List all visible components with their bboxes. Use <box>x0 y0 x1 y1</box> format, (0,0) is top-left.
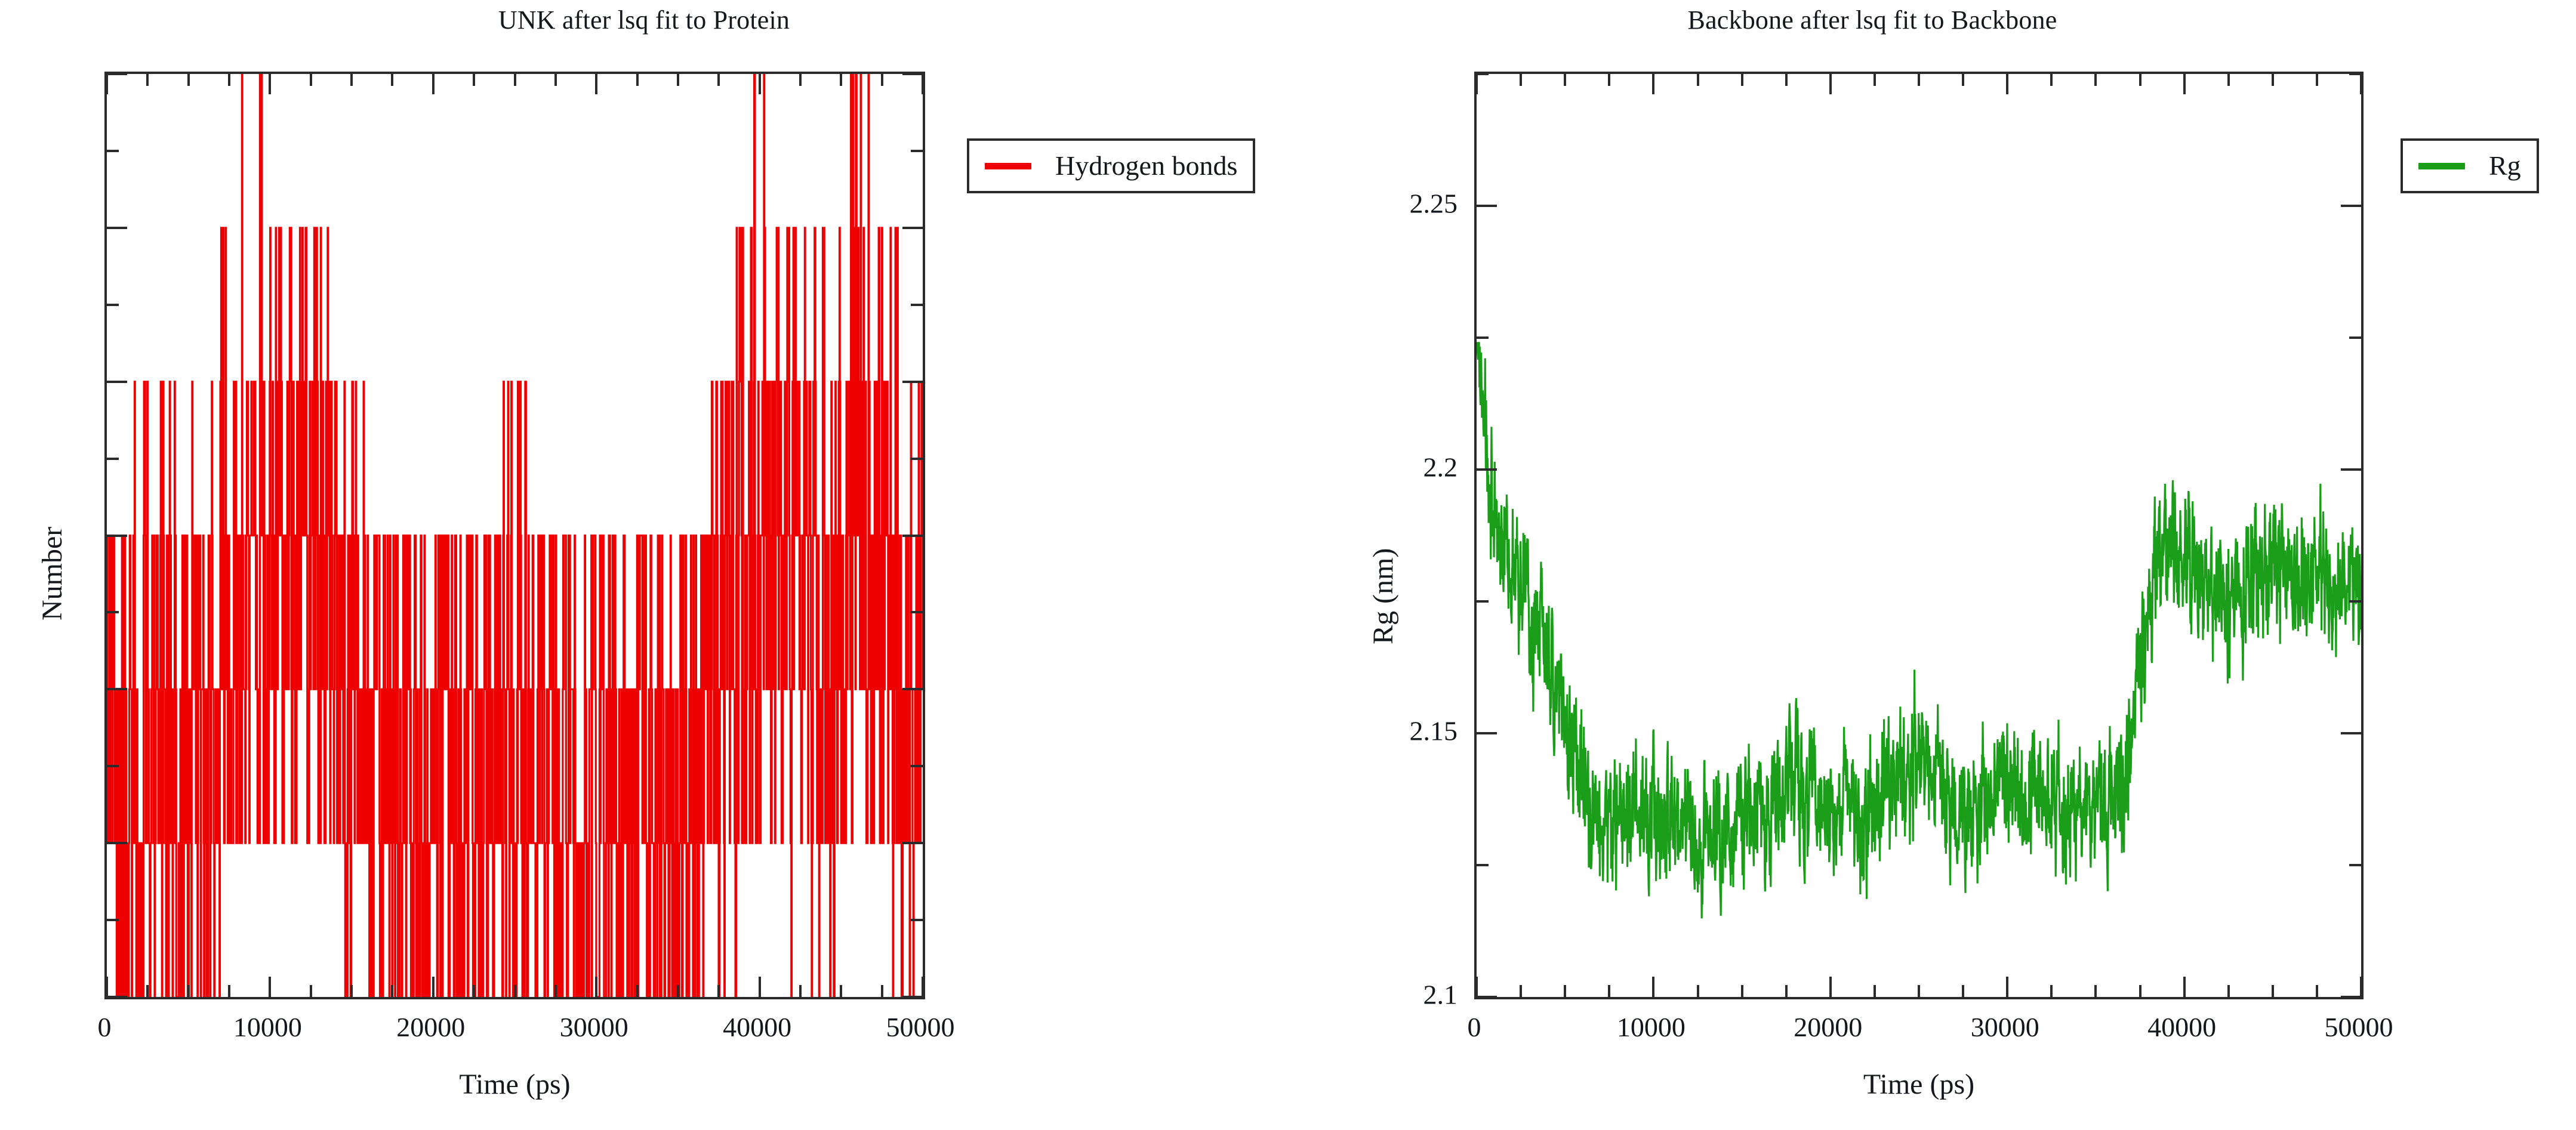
x-tick-label: 20000 <box>1794 1011 1862 1043</box>
legend-label-hydrogen-bonds: Hydrogen bonds <box>1055 152 1237 180</box>
x-axis-tick <box>106 74 108 94</box>
x-tick-label: 0 <box>98 1011 112 1043</box>
y-axis-minor-tick <box>2349 73 2361 75</box>
x-axis-minor-tick <box>799 74 802 86</box>
legend-rg: Rg <box>2401 138 2539 193</box>
y-axis-minor-tick <box>2349 864 2361 866</box>
y-axis-tick <box>107 227 127 229</box>
x-axis-minor-tick <box>2094 74 2097 86</box>
legend-line-swatch-rg <box>2418 163 2465 169</box>
x-axis-tick <box>1829 977 1832 997</box>
x-axis-tick <box>2360 74 2362 94</box>
x-axis-minor-tick <box>2139 74 2141 86</box>
x-tick-label: 40000 <box>2147 1011 2216 1043</box>
x-axis-tick <box>2360 977 2362 997</box>
y-axis-tick <box>902 535 923 537</box>
x-axis-minor-tick <box>350 985 353 997</box>
x-axis-minor-tick <box>881 985 883 997</box>
x-axis-tick <box>595 977 597 997</box>
x-axis-minor-tick <box>554 74 557 86</box>
x-axis-tick <box>1652 74 1654 94</box>
x-axis-minor-tick <box>1918 74 1920 86</box>
x-tick-label: 50000 <box>2325 1011 2393 1043</box>
x-axis-minor-tick <box>228 985 230 997</box>
x-axis-tick <box>595 74 597 94</box>
x-axis-tick <box>1475 74 1478 94</box>
y-axis-minor-tick <box>107 611 119 613</box>
y-axis-tick <box>1477 205 1497 207</box>
x-axis-minor-tick <box>2050 985 2053 997</box>
x-axis-minor-tick <box>840 985 842 997</box>
plot-area-hbond <box>104 72 925 999</box>
x-axis-tick <box>922 977 924 997</box>
x-axis-minor-tick <box>310 985 312 997</box>
x-axis-minor-tick <box>2050 74 2053 86</box>
x-axis-minor-tick <box>2139 985 2141 997</box>
y-axis-minor-tick <box>2349 336 2361 339</box>
y-axis-tick <box>107 996 127 998</box>
x-axis-minor-tick <box>350 74 353 86</box>
y-axis-tick <box>2341 205 2361 207</box>
plot-clip-hbond <box>107 74 923 997</box>
y-tick-label: 2.1 <box>1423 979 1458 1011</box>
chart-title-rg: Backbone after lsq fit to Backbone <box>1228 5 2516 35</box>
x-axis-minor-tick <box>1741 74 1743 86</box>
x-axis-minor-tick <box>2316 74 2318 86</box>
y-axis-tick <box>1477 732 1497 734</box>
y-tick-label: 2.25 <box>1410 188 1458 220</box>
plot-area-rg <box>1474 72 2364 999</box>
x-tick-label: 0 <box>1468 1011 1481 1043</box>
x-axis-tick <box>1475 977 1478 997</box>
x-axis-tick <box>1652 977 1654 997</box>
x-axis-minor-tick <box>636 985 639 997</box>
x-tick-label: 50000 <box>886 1011 955 1043</box>
x-axis-minor-tick <box>1962 74 1964 86</box>
x-axis-minor-tick <box>2272 74 2274 86</box>
x-axis-tick <box>432 74 435 94</box>
x-axis-minor-tick <box>554 985 557 997</box>
x-axis-tick <box>1829 74 1832 94</box>
plot-clip-rg <box>1477 74 2361 997</box>
x-axis-minor-tick <box>636 74 639 86</box>
y-axis-minor-tick <box>107 458 119 460</box>
x-axis-minor-tick <box>146 985 149 997</box>
y-tick-label: 2.15 <box>1410 715 1458 747</box>
y-axis-minor-tick <box>1477 336 1489 339</box>
x-axis-minor-tick <box>391 985 393 997</box>
hydrogen-bonds-line <box>107 74 923 997</box>
x-axis-minor-tick <box>473 74 475 86</box>
x-axis-minor-tick <box>881 74 883 86</box>
y-axis-minor-tick <box>911 304 923 306</box>
x-axis-minor-tick <box>310 74 312 86</box>
x-axis-minor-tick <box>1564 74 1566 86</box>
x-axis-tick <box>759 977 761 997</box>
y-axis-minor-tick <box>911 611 923 613</box>
x-axis-minor-tick <box>799 985 802 997</box>
hydrogen-bonds-trace <box>107 74 923 997</box>
y-axis-minor-tick <box>107 919 119 921</box>
x-axis-tick <box>2183 977 2186 997</box>
y-tick-label: 2.2 <box>1423 452 1458 483</box>
y-axis-tick <box>902 842 923 844</box>
x-axis-minor-tick <box>146 74 149 86</box>
x-axis-minor-tick <box>2316 985 2318 997</box>
x-axis-minor-tick <box>228 74 230 86</box>
y-axis-tick <box>902 688 923 690</box>
x-axis-tick <box>922 74 924 94</box>
x-axis-tick <box>759 74 761 94</box>
x-axis-minor-tick <box>1962 985 1964 997</box>
y-axis-tick <box>902 73 923 75</box>
y-axis-title-hbond: Number <box>36 527 69 620</box>
y-axis-tick <box>107 73 127 75</box>
y-axis-tick <box>1477 468 1497 471</box>
y-axis-minor-tick <box>911 150 923 152</box>
x-axis-minor-tick <box>2272 985 2274 997</box>
x-tick-label: 40000 <box>723 1011 791 1043</box>
x-axis-minor-tick <box>391 74 393 86</box>
x-axis-minor-tick <box>1520 74 1522 86</box>
x-axis-minor-tick <box>677 74 679 86</box>
x-axis-minor-tick <box>2227 985 2230 997</box>
x-axis-minor-tick <box>677 985 679 997</box>
rg-trace <box>1477 74 2361 997</box>
x-axis-minor-tick <box>1564 985 1566 997</box>
x-axis-tick <box>269 977 271 997</box>
legend-line-swatch-hydrogen-bonds <box>985 163 1031 169</box>
y-axis-tick <box>2341 996 2361 998</box>
x-axis-tick <box>2006 977 2008 997</box>
x-axis-tick <box>432 977 435 997</box>
x-axis-minor-tick <box>1697 985 1699 997</box>
y-axis-tick <box>2341 732 2361 734</box>
x-axis-minor-tick <box>2094 985 2097 997</box>
x-axis-minor-tick <box>1697 74 1699 86</box>
y-axis-minor-tick <box>1477 600 1489 603</box>
y-axis-tick <box>902 227 923 229</box>
figure-root: UNK after lsq fit to Protein 0123456 010… <box>0 0 2576 1130</box>
x-axis-minor-tick <box>1785 985 1788 997</box>
x-axis-minor-tick <box>1785 74 1788 86</box>
x-axis-tick <box>2183 74 2186 94</box>
x-axis-minor-tick <box>1874 985 1876 997</box>
x-tick-label: 10000 <box>1617 1011 1686 1043</box>
x-axis-minor-tick <box>840 74 842 86</box>
x-axis-minor-tick <box>717 985 720 997</box>
x-axis-minor-tick <box>514 985 516 997</box>
legend-label-rg: Rg <box>2489 152 2521 180</box>
y-axis-tick <box>107 381 127 383</box>
y-axis-tick <box>1477 996 1497 998</box>
x-axis-tick <box>269 74 271 94</box>
y-axis-minor-tick <box>107 150 119 152</box>
x-tick-label: 10000 <box>233 1011 302 1043</box>
y-axis-tick <box>902 381 923 383</box>
x-axis-minor-tick <box>1918 985 1920 997</box>
x-axis-minor-tick <box>1874 74 1876 86</box>
y-axis-minor-tick <box>911 458 923 460</box>
panel-hbond: UNK after lsq fit to Protein 0123456 010… <box>0 0 1288 1130</box>
y-axis-tick <box>107 535 127 537</box>
x-axis-minor-tick <box>514 74 516 86</box>
y-axis-tick <box>107 842 127 844</box>
x-axis-minor-tick <box>1608 985 1610 997</box>
x-tick-label: 30000 <box>560 1011 628 1043</box>
x-axis-minor-tick <box>187 985 190 997</box>
x-tick-label: 20000 <box>396 1011 465 1043</box>
y-axis-title-rg: Rg (nm) <box>1367 548 1400 644</box>
x-axis-minor-tick <box>1741 985 1743 997</box>
chart-title-hbond: UNK after lsq fit to Protein <box>0 5 1288 35</box>
x-axis-minor-tick <box>1520 985 1522 997</box>
x-axis-title-hbond: Time (ps) <box>104 1068 925 1101</box>
y-axis-minor-tick <box>107 765 119 767</box>
x-axis-title-rg: Time (ps) <box>1474 1068 2364 1101</box>
x-axis-minor-tick <box>1608 74 1610 86</box>
x-axis-minor-tick <box>717 74 720 86</box>
x-axis-minor-tick <box>2227 74 2230 86</box>
y-axis-tick <box>2341 468 2361 471</box>
legend-hbond: Hydrogen bonds <box>967 138 1255 193</box>
rg-line <box>1477 343 2361 919</box>
x-axis-minor-tick <box>187 74 190 86</box>
y-axis-minor-tick <box>911 919 923 921</box>
y-axis-minor-tick <box>107 304 119 306</box>
y-axis-minor-tick <box>1477 73 1489 75</box>
y-axis-minor-tick <box>1477 864 1489 866</box>
y-axis-tick <box>902 996 923 998</box>
x-axis-tick <box>106 977 108 997</box>
y-axis-minor-tick <box>911 765 923 767</box>
y-axis-tick <box>107 688 127 690</box>
y-axis-minor-tick <box>2349 600 2361 603</box>
x-axis-tick <box>2006 74 2008 94</box>
x-axis-minor-tick <box>473 985 475 997</box>
x-tick-label: 30000 <box>1971 1011 2039 1043</box>
